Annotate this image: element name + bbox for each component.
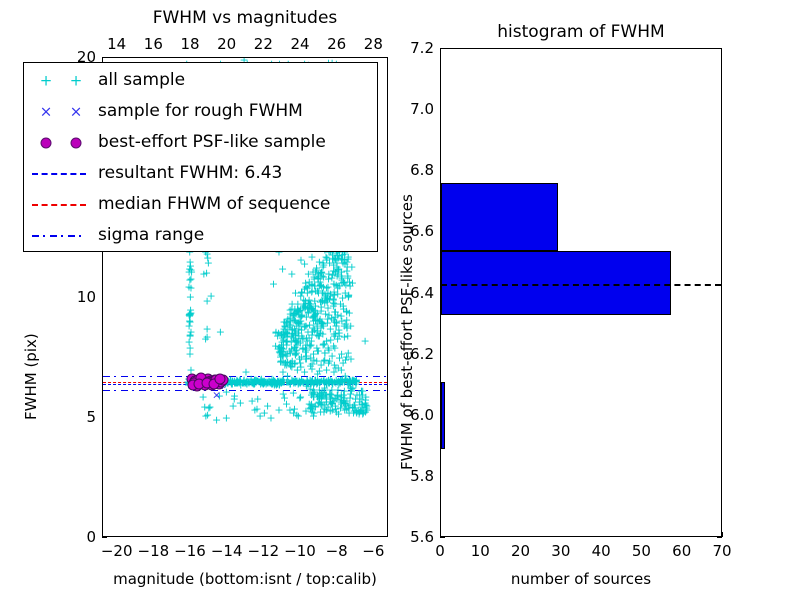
scatter-point-all-sample: + [201,333,210,344]
scatter-point-all-sample: + [294,330,303,341]
scatter-point-all-sample: + [302,375,311,386]
scatter-point-all-sample: + [287,336,296,347]
scatter-point-all-sample: + [213,375,222,386]
scatter-point-all-sample: + [287,357,296,368]
scatter-point-all-sample: + [257,377,266,388]
scatter-point-all-sample: + [309,306,318,317]
left-top-xtick-label: 18 [170,35,210,53]
scatter-point-all-sample: + [329,294,338,305]
scatter-point-all-sample: + [345,374,354,385]
scatter-point-rough-fwhm: × [217,379,226,390]
scatter-point-all-sample: + [341,374,350,385]
scatter-point-all-sample: + [311,266,320,277]
scatter-point-psf-like [208,378,219,389]
scatter-point-all-sample: + [196,374,205,385]
right-xtick-label: 60 [662,542,702,560]
scatter-point-all-sample: + [322,397,331,408]
legend-item-label: sample for rough FWHM [98,103,303,120]
scatter-point-all-sample: + [323,317,332,328]
left-ytick-label: 10 [56,288,96,306]
scatter-point-psf-like [216,377,227,388]
scatter-point-all-sample: + [263,377,272,388]
scatter-point-all-sample: + [289,309,298,320]
scatter-point-all-sample: + [310,375,319,386]
legend-item-label: median FHWM of sequence [98,196,330,213]
scatter-point-all-sample: + [330,360,339,371]
scatter-point-all-sample: + [297,288,306,299]
scatter-point-all-sample: + [330,329,339,340]
scatter-point-all-sample: + [281,357,290,368]
legend-item-label: sigma range [98,227,204,244]
left-top-xtick-label: 24 [280,35,320,53]
scatter-point-all-sample: + [348,278,357,289]
scatter-point-all-sample: + [326,324,335,335]
scatter-point-all-sample: + [312,343,321,354]
scatter-point-all-sample: + [188,377,197,388]
scatter-point-rough-fwhm: × [198,379,207,390]
scatter-point-all-sample: + [327,313,336,324]
scatter-point-all-sample: + [212,415,221,426]
scatter-point-rough-fwhm: × [186,377,195,388]
scatter-point-all-sample: + [288,314,297,325]
scatter-point-all-sample: + [304,332,313,343]
scatter-point-psf-like [195,377,206,388]
scatter-point-psf-like [202,374,213,385]
plus-marker-icon: + [40,73,53,88]
scatter-point-psf-like [211,377,222,388]
scatter-point-all-sample: + [295,310,304,321]
scatter-point-all-sample: + [319,376,328,387]
scatter-point-all-sample: + [195,374,204,385]
scatter-point-all-sample: + [292,377,301,388]
legend-box: ++all sample××sample for rough FWHMbest-… [23,62,378,252]
scatter-point-all-sample: + [265,376,274,387]
scatter-point-all-sample: + [258,379,267,390]
scatter-point-all-sample: + [286,308,295,319]
scatter-point-all-sample: + [288,329,297,340]
scatter-point-all-sample: + [315,366,324,377]
scatter-point-all-sample: + [291,330,300,341]
scatter-point-all-sample: + [313,375,322,386]
scatter-point-all-sample: + [185,343,194,354]
scatter-point-all-sample: + [348,376,357,387]
scatter-point-all-sample: + [259,376,268,387]
scatter-point-all-sample: + [331,321,340,332]
scatter-point-all-sample: + [186,309,195,320]
scatter-point-all-sample: + [340,375,349,386]
left-yaxis-label: FWHM (pix) [22,333,40,420]
scatter-point-all-sample: + [204,378,213,389]
scatter-point-all-sample: + [301,295,310,306]
scatter-point-all-sample: + [212,376,221,387]
scatter-point-all-sample: + [339,357,348,368]
scatter-point-all-sample: + [340,254,349,265]
scatter-point-all-sample: + [271,378,280,389]
scatter-point-all-sample: + [301,342,310,353]
scatter-point-all-sample: + [283,376,292,387]
scatter-point-all-sample: + [212,378,221,389]
scatter-point-all-sample: + [304,307,313,318]
scatter-point-all-sample: + [263,401,272,412]
scatter-point-psf-like [194,378,205,389]
scatter-point-all-sample: + [329,395,338,406]
scatter-point-all-sample: + [233,377,242,388]
scatter-point-all-sample: + [277,343,286,354]
scatter-point-all-sample: + [317,318,326,329]
scatter-point-all-sample: + [335,376,344,387]
scatter-point-all-sample: + [278,377,287,388]
scatter-point-all-sample: + [186,326,195,337]
scatter-point-all-sample: + [318,270,327,281]
scatter-point-all-sample: + [340,398,349,409]
scatter-point-all-sample: + [319,260,328,271]
scatter-point-all-sample: + [260,408,269,419]
scatter-point-all-sample: + [301,278,310,289]
legend-item[interactable]: ++all sample [24,65,377,96]
scatter-point-all-sample: + [317,295,326,306]
scatter-point-all-sample: + [341,371,350,382]
scatter-point-all-sample: + [327,399,336,410]
scatter-point-all-sample: + [279,339,288,350]
scatter-point-all-sample: + [288,324,297,335]
scatter-point-all-sample: + [315,391,324,402]
scatter-point-all-sample: + [321,309,330,320]
scatter-point-rough-fwhm: × [205,378,214,389]
scatter-point-all-sample: + [309,304,318,315]
scatter-point-all-sample: + [233,377,242,388]
scatter-point-all-sample: + [263,377,272,388]
scatter-point-all-sample: + [230,391,239,402]
scatter-point-all-sample: + [320,338,329,349]
scatter-point-rough-fwhm: × [187,375,196,386]
scatter-point-all-sample: + [185,311,194,322]
legend-item[interactable]: median FHWM of sequence [24,189,377,220]
scatter-point-all-sample: + [329,341,338,352]
scatter-point-all-sample: + [200,378,209,389]
scatter-point-all-sample: + [315,397,324,408]
red-dashed-line-icon [32,204,86,206]
scatter-point-all-sample: + [340,385,349,396]
scatter-point-all-sample: + [344,408,353,419]
scatter-point-all-sample: + [296,361,305,372]
scatter-point-all-sample: + [294,307,303,318]
scatter-point-all-sample: + [326,406,335,417]
scatter-point-all-sample: + [291,376,300,387]
scatter-point-all-sample: + [202,267,211,278]
scatter-point-all-sample: + [285,404,294,415]
scatter-point-all-sample: + [320,400,329,411]
right-xtick-label: 20 [501,542,541,560]
scatter-point-all-sample: + [325,377,334,388]
scatter-point-all-sample: + [302,380,311,391]
scatter-point-all-sample: + [299,295,308,306]
scatter-point-all-sample: + [339,396,348,407]
scatter-point-all-sample: + [285,316,294,327]
scatter-point-psf-like [187,379,198,390]
scatter-point-all-sample: + [339,277,348,288]
scatter-point-all-sample: + [230,393,239,404]
scatter-point-all-sample: + [235,377,244,388]
scatter-point-all-sample: + [309,349,318,360]
scatter-point-all-sample: + [297,310,306,321]
scatter-point-all-sample: + [283,328,292,339]
scatter-point-all-sample: + [298,377,307,388]
scatter-point-all-sample: + [294,305,303,316]
scatter-point-all-sample: + [306,400,315,411]
scatter-point-all-sample: + [318,288,327,299]
scatter-point-all-sample: + [337,375,346,386]
scatter-point-all-sample: + [329,295,338,306]
legend-item-label: all sample [98,72,185,89]
scatter-point-all-sample: + [279,346,288,357]
scatter-point-all-sample: + [275,379,284,390]
scatter-point-all-sample: + [302,345,311,356]
scatter-point-all-sample: + [234,376,243,387]
scatter-point-all-sample: + [202,375,211,386]
scatter-point-all-sample: + [273,375,282,386]
scatter-point-all-sample: + [281,321,290,332]
scatter-point-all-sample: + [340,332,349,343]
scatter-point-psf-like [193,374,204,385]
scatter-point-all-sample: + [295,317,304,328]
scatter-point-all-sample: + [290,404,299,415]
legend-marker-sample [24,189,98,220]
scatter-point-psf-like [196,373,207,384]
scatter-point-all-sample: + [196,375,205,386]
scatter-point-all-sample: + [296,391,305,402]
scatter-point-all-sample: + [206,375,215,386]
scatter-point-all-sample: + [333,250,342,261]
scatter-point-all-sample: + [185,348,194,359]
scatter-point-psf-like [186,374,197,385]
scatter-point-all-sample: + [320,383,329,394]
scatter-point-all-sample: + [323,293,332,304]
scatter-point-all-sample: + [330,330,339,341]
scatter-point-all-sample: + [309,392,318,403]
scatter-point-all-sample: + [325,377,334,388]
scatter-point-all-sample: + [275,346,284,357]
scatter-point-all-sample: + [316,306,325,317]
scatter-point-all-sample: + [331,401,340,412]
scatter-point-psf-like [191,378,202,389]
scatter-point-all-sample: + [202,376,211,387]
scatter-point-all-sample: + [276,343,285,354]
scatter-point-all-sample: + [240,375,249,386]
scatter-point-all-sample: + [307,326,316,337]
scatter-point-all-sample: + [328,398,337,409]
scatter-point-all-sample: + [277,330,286,341]
scatter-point-all-sample: + [329,265,338,276]
scatter-point-all-sample: + [196,377,205,388]
scatter-point-all-sample: + [327,385,336,396]
scatter-point-all-sample: + [323,296,332,307]
scatter-point-all-sample: + [287,303,296,314]
scatter-point-all-sample: + [316,296,325,307]
scatter-point-all-sample: + [323,401,332,412]
scatter-point-all-sample: + [292,376,301,387]
scatter-point-all-sample: + [290,374,299,385]
scatter-point-all-sample: + [288,376,297,387]
scatter-point-all-sample: + [313,326,322,337]
scatter-point-all-sample: + [279,343,288,354]
scatter-point-all-sample: + [324,273,333,284]
scatter-point-all-sample: + [241,377,250,388]
scatter-point-all-sample: + [322,393,331,404]
scatter-point-all-sample: + [342,351,351,362]
scatter-point-all-sample: + [349,375,358,386]
scatter-point-all-sample: + [213,378,222,389]
right-axes-frame [440,48,722,537]
scatter-point-all-sample: + [238,378,247,389]
scatter-point-all-sample: + [311,300,320,311]
scatter-point-all-sample: + [260,377,269,388]
scatter-point-all-sample: + [306,298,315,309]
scatter-point-all-sample: + [296,377,305,388]
scatter-point-all-sample: + [337,349,346,360]
scatter-point-all-sample: + [305,276,314,287]
scatter-point-all-sample: + [325,356,334,367]
scatter-point-all-sample: + [314,287,323,298]
scatter-point-all-sample: + [300,284,309,295]
scatter-point-all-sample: + [184,282,193,293]
scatter-point-all-sample: + [337,398,346,409]
scatter-point-all-sample: + [294,306,303,317]
scatter-point-all-sample: + [316,280,325,291]
scatter-point-all-sample: + [294,317,303,328]
scatter-point-all-sample: + [325,257,334,268]
scatter-point-all-sample: + [220,377,229,388]
scatter-point-all-sample: + [232,376,241,387]
scatter-point-all-sample: + [316,314,325,325]
scatter-point-all-sample: + [356,393,365,404]
scatter-point-all-sample: + [282,327,291,338]
left-panel-title: FWHM vs magnitudes [102,8,388,28]
right-xtick-label: 40 [581,542,621,560]
scatter-point-all-sample: + [314,270,323,281]
scatter-point-all-sample: + [317,375,326,386]
scatter-point-rough-fwhm: × [187,375,196,386]
scatter-point-all-sample: + [290,359,299,370]
scatter-point-all-sample: + [274,377,283,388]
scatter-point-all-sample: + [199,379,208,390]
legend-item[interactable]: ××sample for rough FWHM [24,96,377,127]
scatter-point-all-sample: + [289,375,298,386]
scatter-point-all-sample: + [357,385,366,396]
scatter-point-all-sample: + [317,388,326,399]
scatter-point-all-sample: + [287,269,296,280]
scatter-point-all-sample: + [334,378,343,389]
right-yaxis-label: FWHM of best-effort PSF-like sources [398,194,416,470]
scatter-point-all-sample: + [185,378,194,389]
scatter-point-all-sample: + [334,375,343,386]
right-xtick-label: 10 [460,542,500,560]
scatter-point-all-sample: + [279,324,288,335]
scatter-point-all-sample: + [195,378,204,389]
scatter-point-all-sample: + [218,378,227,389]
scatter-point-all-sample: + [332,374,341,385]
scatter-point-all-sample: + [196,376,205,387]
scatter-point-all-sample: + [317,393,326,404]
scatter-point-all-sample: + [275,347,284,358]
scatter-point-all-sample: + [243,376,252,387]
scatter-point-rough-fwhm: × [212,378,221,389]
scatter-point-all-sample: + [343,376,352,387]
scatter-point-all-sample: + [256,378,265,389]
scatter-point-all-sample: + [291,349,300,360]
scatter-point-all-sample: + [220,376,229,387]
scatter-point-all-sample: + [316,268,325,279]
scatter-point-all-sample: + [327,390,336,401]
scatter-point-all-sample: + [296,316,305,327]
legend-item[interactable]: best-effort PSF-like sample [24,127,377,158]
scatter-point-all-sample: + [358,400,367,411]
scatter-point-all-sample: + [344,379,353,390]
legend-marker-sample: ++ [24,65,98,96]
legend-marker-sample [24,158,98,189]
scatter-point-all-sample: + [351,393,360,404]
scatter-point-all-sample: + [291,327,300,338]
scatter-point-all-sample: + [242,378,251,389]
scatter-point-all-sample: + [292,335,301,346]
scatter-point-all-sample: + [319,374,328,385]
scatter-point-all-sample: + [289,332,298,343]
scatter-point-all-sample: + [272,378,281,389]
scatter-point-all-sample: + [278,349,287,360]
blue-dashed-line-icon [32,173,86,175]
scatter-point-all-sample: + [185,376,194,387]
scatter-point-all-sample: + [309,355,318,366]
scatter-point-all-sample: + [216,326,225,337]
scatter-point-all-sample: + [341,319,350,330]
scatter-point-all-sample: + [258,378,267,389]
scatter-point-all-sample: + [302,311,311,322]
left-ytick-label: 5 [56,408,96,426]
scatter-point-all-sample: + [215,391,224,402]
scatter-point-all-sample: + [361,397,370,408]
scatter-point-psf-like [192,380,203,391]
scatter-point-all-sample: + [339,304,348,315]
scatter-point-all-sample: + [319,356,328,367]
scatter-point-all-sample: + [328,254,337,265]
scatter-point-all-sample: + [185,309,194,320]
scatter-point-all-sample: + [218,377,227,388]
scatter-point-all-sample: + [292,347,301,358]
scatter-point-all-sample: + [225,377,234,388]
left-reference-line [103,390,387,392]
scatter-point-rough-fwhm: × [204,377,213,388]
scatter-point-all-sample: + [322,283,331,294]
scatter-point-all-sample: + [266,376,275,387]
left-ytick-mark [102,537,107,538]
scatter-point-all-sample: + [315,257,324,268]
legend-item[interactable]: sigma range [24,220,377,251]
scatter-point-all-sample: + [289,377,298,388]
scatter-point-all-sample: + [269,374,278,385]
scatter-point-all-sample: + [209,378,218,389]
scatter-point-all-sample: + [336,374,345,385]
scatter-point-all-sample: + [346,383,355,394]
scatter-point-all-sample: + [339,300,348,311]
legend-item[interactable]: resultant FWHM: 6.43 [24,158,377,189]
scatter-point-all-sample: + [320,385,329,396]
scatter-point-all-sample: + [185,375,194,386]
scatter-point-all-sample: + [309,392,318,403]
scatter-point-all-sample: + [342,265,351,276]
scatter-point-all-sample: + [361,395,370,406]
scatter-point-all-sample: + [346,321,355,332]
scatter-point-all-sample: + [311,402,320,413]
scatter-point-all-sample: + [280,359,289,370]
